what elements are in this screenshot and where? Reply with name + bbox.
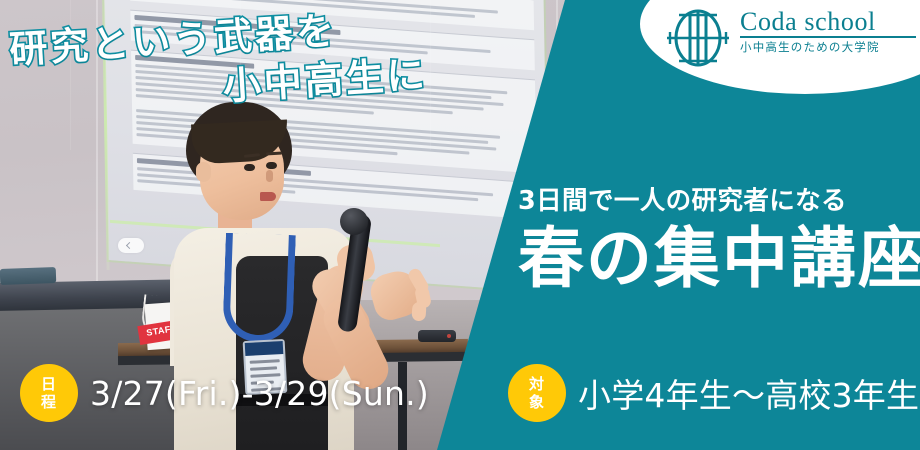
eye — [244, 164, 255, 171]
course-main-title: 春の集中講座 — [516, 225, 920, 298]
schedule-info: 日 程 3/27(Fri.)-3/29(Sun.) — [20, 364, 429, 422]
audience-info: 対 象 小学4年生〜高校3年生 — [508, 364, 919, 422]
logo-wordmark: Coda school 小中高生のための大学院 — [740, 8, 916, 55]
lanyard — [222, 233, 296, 343]
circle-grid-logo-icon — [666, 7, 730, 69]
brand-logo[interactable]: Coda school 小中高生のための大学院 — [666, 6, 916, 72]
schedule-value: 3/27(Fri.)-3/29(Sun.) — [90, 374, 429, 413]
schedule-badge-line-2: 程 — [41, 393, 57, 411]
nose — [266, 170, 273, 182]
schedule-badge: 日 程 — [20, 364, 78, 422]
logo-name: Coda school — [740, 8, 916, 35]
ear — [196, 162, 211, 182]
mouth — [260, 192, 276, 201]
course-subtitle-text: 3日間で一人の研究者になる — [518, 186, 847, 216]
audience-badge: 対 象 — [508, 364, 566, 422]
title-block: 3日間で一人の研究者になる 春の集中講座 — [516, 180, 916, 298]
blue-equipment — [0, 267, 56, 285]
promo-banner: STAFF ONLY — [0, 0, 920, 450]
logo-divider — [740, 36, 916, 38]
course-subtitle: 3日間で一人の研究者になる — [516, 180, 849, 221]
logo-tagline: 小中高生のための大学院 — [740, 39, 916, 55]
audience-badge-line-2: 象 — [529, 393, 545, 411]
audience-badge-line-1: 対 — [529, 375, 545, 393]
black-device — [418, 330, 456, 342]
schedule-badge-line-1: 日 — [41, 375, 57, 393]
eye — [266, 162, 277, 169]
course-main-title-text: 春の集中講座 — [518, 220, 920, 297]
audience-value: 小学4年生〜高校3年生 — [578, 369, 919, 417]
